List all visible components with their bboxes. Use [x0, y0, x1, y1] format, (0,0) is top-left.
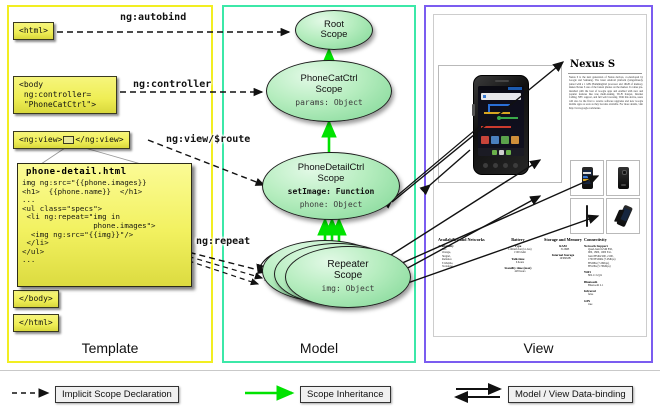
spec-column-battery: Battery Type Lithium Ion (Li-Ion) 1500 m…: [494, 237, 542, 274]
legend-item-scope-inheritance: Scope Inheritance: [300, 386, 391, 403]
scope-phonecatctrl[interactable]: PhoneCatCtrl Scope params: Object: [266, 60, 392, 122]
ngview-placeholder-icon: [63, 136, 74, 144]
tag-html-close: </html>: [13, 314, 59, 332]
phone-thumbnail-angled[interactable]: [606, 198, 640, 234]
phone-large-image: [473, 75, 529, 175]
scope-property-img: img: Object: [322, 284, 375, 294]
spec-heading: Connectivity: [584, 237, 643, 242]
tag-ngview-close: </ng:view>: [75, 135, 123, 144]
panel-label-view: View: [424, 340, 653, 356]
scope-property-phone: phone: Object: [300, 200, 363, 210]
scope-name-line1: Root: [324, 19, 344, 30]
edge-label-controller: ng:controller: [133, 79, 211, 90]
scope-phonedetailctrl[interactable]: PhoneDetailCtrl Scope setImage: Function…: [262, 152, 400, 220]
spec-heading: Battery: [494, 237, 542, 242]
spec-column-availability: Availability and Networks Availability M…: [438, 237, 486, 268]
phone-large-photo-frame: [438, 65, 562, 183]
tag-body-close: </body>: [13, 290, 59, 308]
legend-divider: [0, 370, 660, 371]
legend: Implicit Scope Declaration Scope Inherit…: [0, 378, 660, 408]
phone-thumbnail-front[interactable]: [570, 160, 604, 196]
phone-thumbnail-side[interactable]: [570, 198, 604, 234]
scope-name-line1: PhoneDetailCtrl: [298, 162, 365, 173]
edge-label-repeat: ng:repeat: [196, 236, 250, 247]
spec-heading: Storage and Memory: [542, 237, 584, 242]
tag-body-open: <body ng:controller= "PhoneCatCtrl">: [13, 76, 117, 114]
panel-label-model: Model: [222, 340, 416, 356]
title-rule: [568, 73, 642, 74]
product-title: Nexus S: [570, 59, 615, 70]
phone-thumbnail-back[interactable]: [606, 160, 640, 196]
tag-html-open: <html>: [13, 22, 54, 40]
scope-name-line1: Repeater: [327, 259, 368, 270]
spec-column-connectivity: Connectivity Network Support Quad-band G…: [584, 237, 643, 306]
panel-label-template: Template: [7, 340, 213, 356]
specs-table: Availability and Networks Availability M…: [438, 237, 643, 332]
scope-name-line1: PhoneCatCtrl: [300, 73, 357, 84]
legend-item-data-binding: Model / View Data-binding: [508, 386, 633, 403]
scope-name-line2: Scope: [318, 173, 345, 184]
scope-property: params: Object: [295, 98, 362, 108]
scope-root[interactable]: Root Scope: [295, 10, 373, 50]
note-code: img ng:src="{{phone.images}} <h1> {{phon…: [18, 179, 191, 268]
legend-item-implicit-scope-declaration: Implicit Scope Declaration: [55, 386, 179, 403]
scope-repeater-front[interactable]: Repeater Scope img: Object: [285, 246, 411, 308]
scope-name-line2: Scope: [321, 29, 348, 40]
template-note-phone-detail: phone-detail.html img ng:src="{{phone.im…: [17, 163, 192, 287]
spec-heading: Availability and Networks: [438, 237, 486, 242]
scope-name-line2: Scope: [316, 84, 343, 95]
edge-label-autobind: ng:autobind: [120, 12, 186, 23]
scope-property-setimage: setImage: Function: [288, 187, 375, 197]
note-title: phone-detail.html: [18, 164, 191, 179]
view-document: Nexus S Nexus S is the next generation o…: [433, 14, 647, 337]
tag-ngview-open: <ng:view>: [19, 135, 62, 144]
tag-ngview: <ng:view></ng:view>: [13, 131, 130, 149]
spec-values: M/s Orange, Singtel, Reliance T-Mobile, …: [438, 248, 486, 268]
diagram-root: Nexus S Nexus S is the next generation o…: [0, 0, 660, 420]
scope-name-line2: Scope: [334, 270, 362, 281]
edge-label-route: ng:view/$route: [166, 134, 250, 145]
product-description: Nexus S is the next generation of Nexus …: [569, 76, 643, 110]
spec-column-storage: Storage and Memory RAM 512MB Internal St…: [542, 237, 584, 261]
